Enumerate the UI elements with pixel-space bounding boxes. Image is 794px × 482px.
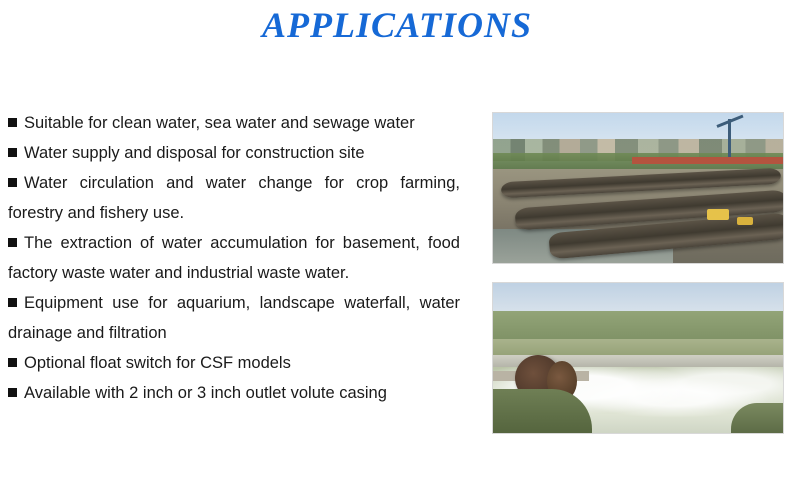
truck-icon <box>737 217 753 225</box>
list-item-label: Optional float switch for CSF models <box>24 354 291 372</box>
list-item: Water circulation and water change for c… <box>8 168 460 228</box>
list-item-label: Equipment use for aquarium, landscape wa… <box>8 294 460 342</box>
list-item-label: Available with 2 inch or 3 inch outlet v… <box>24 384 387 402</box>
list-item: Optional float switch for CSF models <box>8 348 460 378</box>
list-item: Suitable for clean water, sea water and … <box>8 108 460 138</box>
applications-page: APPLICATIONS Suitable for clean water, s… <box>0 0 794 482</box>
list-item: Available with 2 inch or 3 inch outlet v… <box>8 378 460 408</box>
bullet-square-icon <box>8 148 17 157</box>
bullet-square-icon <box>8 238 17 247</box>
construction-site-photo <box>492 112 784 264</box>
page-title: APPLICATIONS <box>0 4 794 46</box>
list-item-label: Water circulation and water change for c… <box>8 174 460 222</box>
truck-icon <box>707 209 729 220</box>
water-discharge-photo <box>492 282 784 434</box>
list-item: The extraction of water accumulation for… <box>8 228 460 288</box>
bullet-square-icon <box>8 298 17 307</box>
list-item: Water supply and disposal for constructi… <box>8 138 460 168</box>
bullet-square-icon <box>8 178 17 187</box>
list-item: Equipment use for aquarium, landscape wa… <box>8 288 460 348</box>
list-item-label: The extraction of water accumulation for… <box>8 234 460 282</box>
red-fence <box>632 157 783 164</box>
bullet-square-icon <box>8 388 17 397</box>
bullet-square-icon <box>8 118 17 127</box>
photo-column <box>492 112 784 452</box>
bullet-square-icon <box>8 358 17 367</box>
list-item-label: Water supply and disposal for constructi… <box>24 144 365 162</box>
applications-bullet-list: Suitable for clean water, sea water and … <box>8 108 460 408</box>
list-item-label: Suitable for clean water, sea water and … <box>24 114 415 132</box>
